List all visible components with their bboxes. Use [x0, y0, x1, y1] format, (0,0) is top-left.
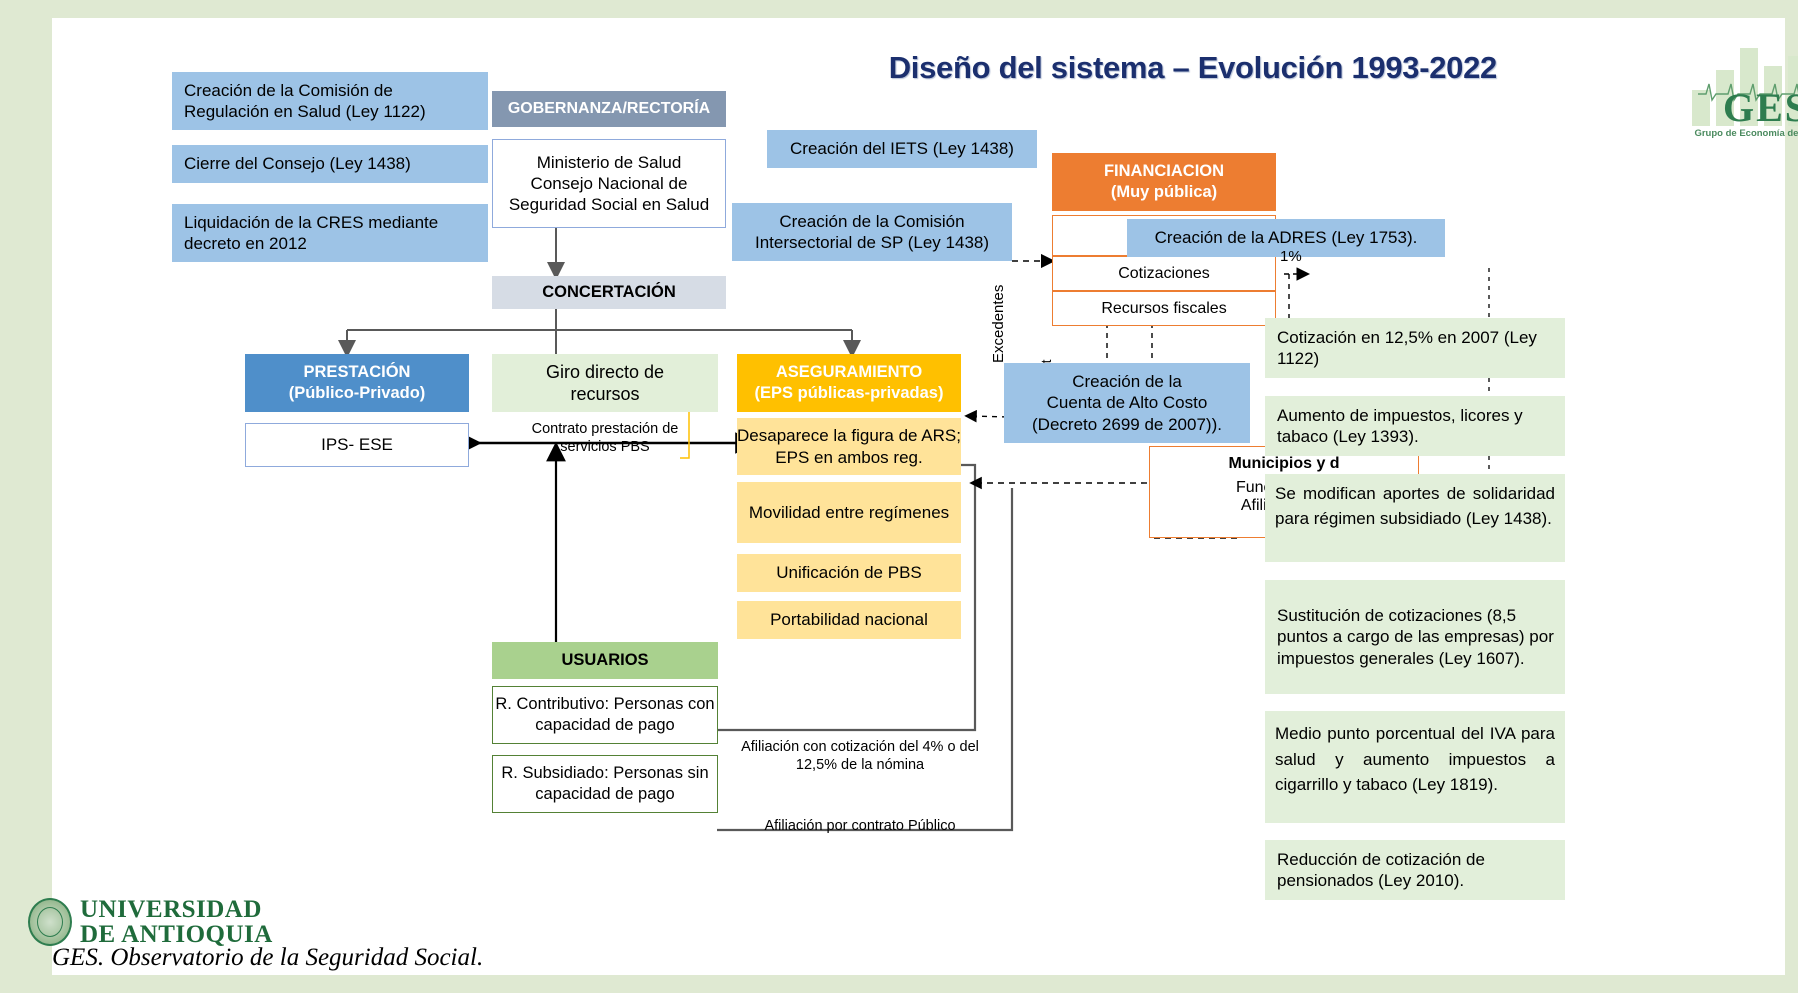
giro-directo-box[interactable]: Giro directo de recursos: [492, 354, 718, 412]
financiacion-header-line-1: FINANCIACION: [1104, 161, 1224, 182]
aseguramiento-item-ars[interactable]: Desaparece la figura de ARS; EPS en ambo…: [737, 418, 961, 475]
note-iets-creation[interactable]: Creación del IETS (Ley 1438): [767, 130, 1037, 168]
giro-directo-line-2: recursos: [570, 383, 639, 406]
prestacion-body-ips-ese[interactable]: IPS- ESE: [245, 423, 469, 467]
usuarios-header[interactable]: USUARIOS: [492, 642, 718, 679]
prestacion-header[interactable]: PRESTACIÓN (Público-Privado): [245, 354, 469, 412]
governance-body-line-2: Consejo Nacional de: [531, 173, 688, 194]
note-consejo-closure[interactable]: Cierre del Consejo (Ley 1438): [172, 145, 488, 183]
page-title: Diseño del sistema – Evolución 1993-2022: [797, 50, 1497, 86]
concertacion-band[interactable]: CONCERTACIÓN: [492, 276, 726, 309]
ges-observatory-caption: GES. Observatorio de la Seguridad Social…: [52, 944, 483, 972]
governance-body-line-1: Ministerio de Salud: [537, 152, 682, 173]
governance-body[interactable]: Ministerio de Salud Consejo Nacional de …: [492, 139, 726, 228]
slide-canvas: Diseño del sistema – Evolución 1993-2022…: [52, 18, 1785, 975]
financiacion-row-cotizaciones[interactable]: Cotizaciones: [1052, 256, 1276, 291]
aseguramiento-header-line-2: (EPS públicas-privadas): [755, 383, 944, 404]
financiacion-header-line-2: (Muy pública): [1111, 182, 1217, 203]
contrato-caption-line-2: servicios PBS: [560, 438, 649, 456]
municipios-header: Municipios y d: [1150, 455, 1418, 473]
financiacion-row-recursos-fiscales[interactable]: Recursos fiscales: [1052, 291, 1276, 326]
afiliacion-contrato-caption: Afiliación por contrato Público: [724, 813, 996, 839]
financiacion-header[interactable]: FINANCIACION (Muy pública): [1052, 153, 1276, 211]
alto-costo-line-1: Creación de la: [1072, 371, 1182, 392]
alto-costo-line-2: Cuenta de Alto Costo: [1047, 392, 1208, 413]
note-comision-intersectorial[interactable]: Creación de la Comisión Intersectorial d…: [732, 203, 1012, 261]
note-reduccion-pensionados[interactable]: Reducción de cotización de pensionados (…: [1265, 840, 1565, 900]
prestacion-header-line-2: (Público-Privado): [289, 383, 426, 404]
note-aumento-impuestos-licores[interactable]: Aumento de impuestos, licores y tabaco (…: [1265, 396, 1565, 456]
usuarios-item-contributivo[interactable]: R. Contributivo: Personas con capacidad …: [492, 686, 718, 744]
note-cuenta-alto-costo[interactable]: Creación de la Cuenta de Alto Costo (Dec…: [1004, 363, 1250, 443]
note-sustitucion-cotizaciones[interactable]: Sustitución de cotizaciones (8,5 puntos …: [1265, 580, 1565, 694]
note-aportes-solidaridad[interactable]: Se modifican aportes de solidaridad para…: [1265, 474, 1565, 562]
udea-logo-line-1: UNIVERSIDAD: [80, 896, 262, 924]
flow-label-one-percent: 1%: [1280, 248, 1302, 265]
slide-left-margin: [0, 0, 52, 993]
alto-costo-line-3: (Decreto 2699 de 2007)).: [1032, 414, 1222, 435]
contrato-prestacion-caption: Contrato prestación de servicios PBS: [492, 416, 718, 460]
note-cres-creation[interactable]: Creación de la Comisión de Regulación en…: [172, 72, 488, 130]
ges-logo-subtitle: Grupo de Economía de la Salud: [1692, 128, 1798, 139]
afiliacion-cotizacion-caption: Afiliación con cotización del 4% o del 1…: [724, 734, 996, 778]
governance-header[interactable]: GOBERNANZA/RECTORÍA: [492, 91, 726, 127]
slide-root: Diseño del sistema – Evolución 1993-2022…: [0, 0, 1798, 993]
aseguramiento-item-portabilidad[interactable]: Portabilidad nacional: [737, 601, 961, 639]
contrato-caption-line-1: Contrato prestación de: [532, 420, 679, 438]
note-cres-liquidation[interactable]: Liquidación de la CRES mediante decreto …: [172, 204, 488, 262]
aseguramiento-item-unificacion[interactable]: Unificación de PBS: [737, 554, 961, 592]
aseguramiento-header-line-1: ASEGURAMIENTO: [776, 362, 922, 383]
giro-directo-line-1: Giro directo de: [546, 361, 664, 384]
aseguramiento-item-movilidad[interactable]: Movilidad entre regímenes: [737, 482, 961, 543]
note-cotizacion-2007[interactable]: Cotización en 12,5% en 2007 (Ley 1122): [1265, 318, 1565, 378]
ges-logo-wordmark: GES: [1692, 84, 1798, 131]
aseguramiento-header[interactable]: ASEGURAMIENTO (EPS públicas-privadas): [737, 354, 961, 412]
ges-logo: GES Grupo de Economía de la Salud: [1692, 44, 1798, 142]
slide-bottom-margin: [0, 975, 1798, 993]
prestacion-header-line-1: PRESTACIÓN: [304, 362, 411, 383]
governance-body-line-3: Seguridad Social en Salud: [509, 194, 709, 215]
usuarios-item-subsidiado[interactable]: R. Subsidiado: Personas sin capacidad de…: [492, 755, 718, 813]
udea-seal-icon: [28, 898, 72, 946]
note-medio-punto-iva[interactable]: Medio punto porcentual del IVA para salu…: [1265, 711, 1565, 823]
flow-label-excedentes: Excedentes: [990, 285, 1007, 363]
